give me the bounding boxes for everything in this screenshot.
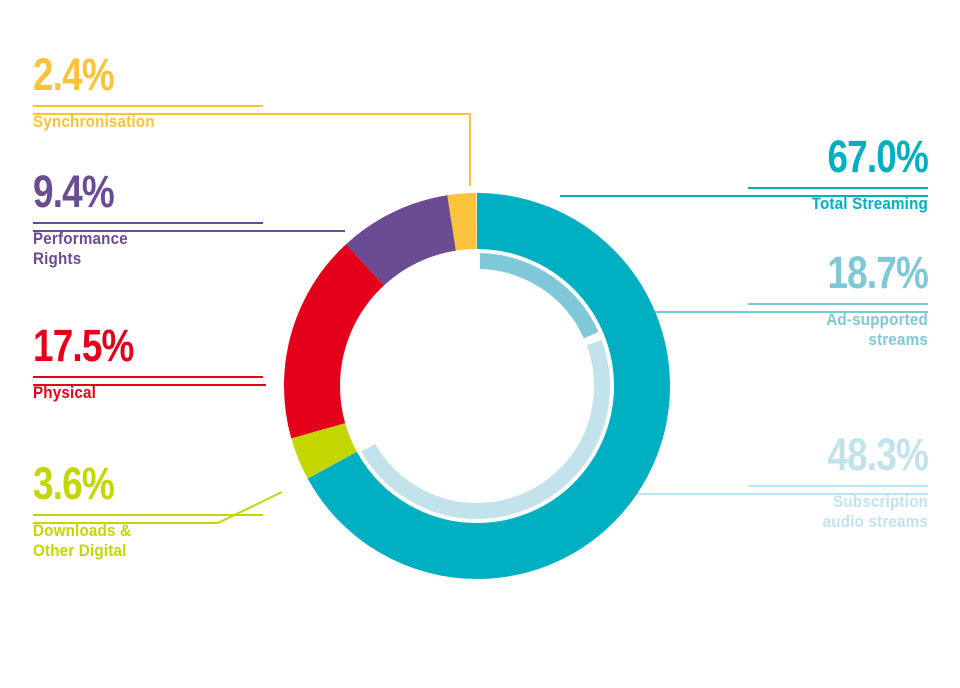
subscription-percent: 48.3%: [780, 432, 928, 478]
outer-ring: [312, 221, 642, 551]
inner-ring: [352, 261, 602, 511]
synchronisation-caption: Synchronisation: [33, 107, 245, 132]
label-total-streaming: 67.0% Total Streaming: [748, 134, 928, 214]
physical-percent: 17.5%: [33, 323, 222, 369]
chart-canvas: 2.4% Synchronisation 9.4% Performance Ri…: [0, 0, 960, 688]
downloads-percent: 3.6%: [33, 461, 222, 507]
ad-supported-percent: 18.7%: [780, 250, 928, 296]
physical-caption: Physical: [33, 378, 245, 403]
label-performance-rights: 9.4% Performance Rights: [33, 169, 263, 269]
subscription-caption: Subscription audio streams: [762, 487, 928, 532]
total-streaming-percent: 67.0%: [780, 134, 928, 180]
label-physical: 17.5% Physical: [33, 323, 263, 403]
label-ad-supported: 18.7% Ad-supported streams: [748, 250, 928, 350]
label-synchronisation: 2.4% Synchronisation: [33, 52, 263, 132]
ad-supported-caption: Ad-supported streams: [762, 305, 928, 350]
total-streaming-caption: Total Streaming: [762, 189, 928, 214]
synchronisation-percent: 2.4%: [33, 52, 222, 98]
label-downloads: 3.6% Downloads & Other Digital: [33, 461, 263, 561]
downloads-caption: Downloads & Other Digital: [33, 516, 245, 561]
label-subscription: 48.3% Subscription audio streams: [748, 432, 928, 532]
performance-rights-percent: 9.4%: [33, 169, 222, 215]
performance-rights-caption: Performance Rights: [33, 224, 245, 269]
